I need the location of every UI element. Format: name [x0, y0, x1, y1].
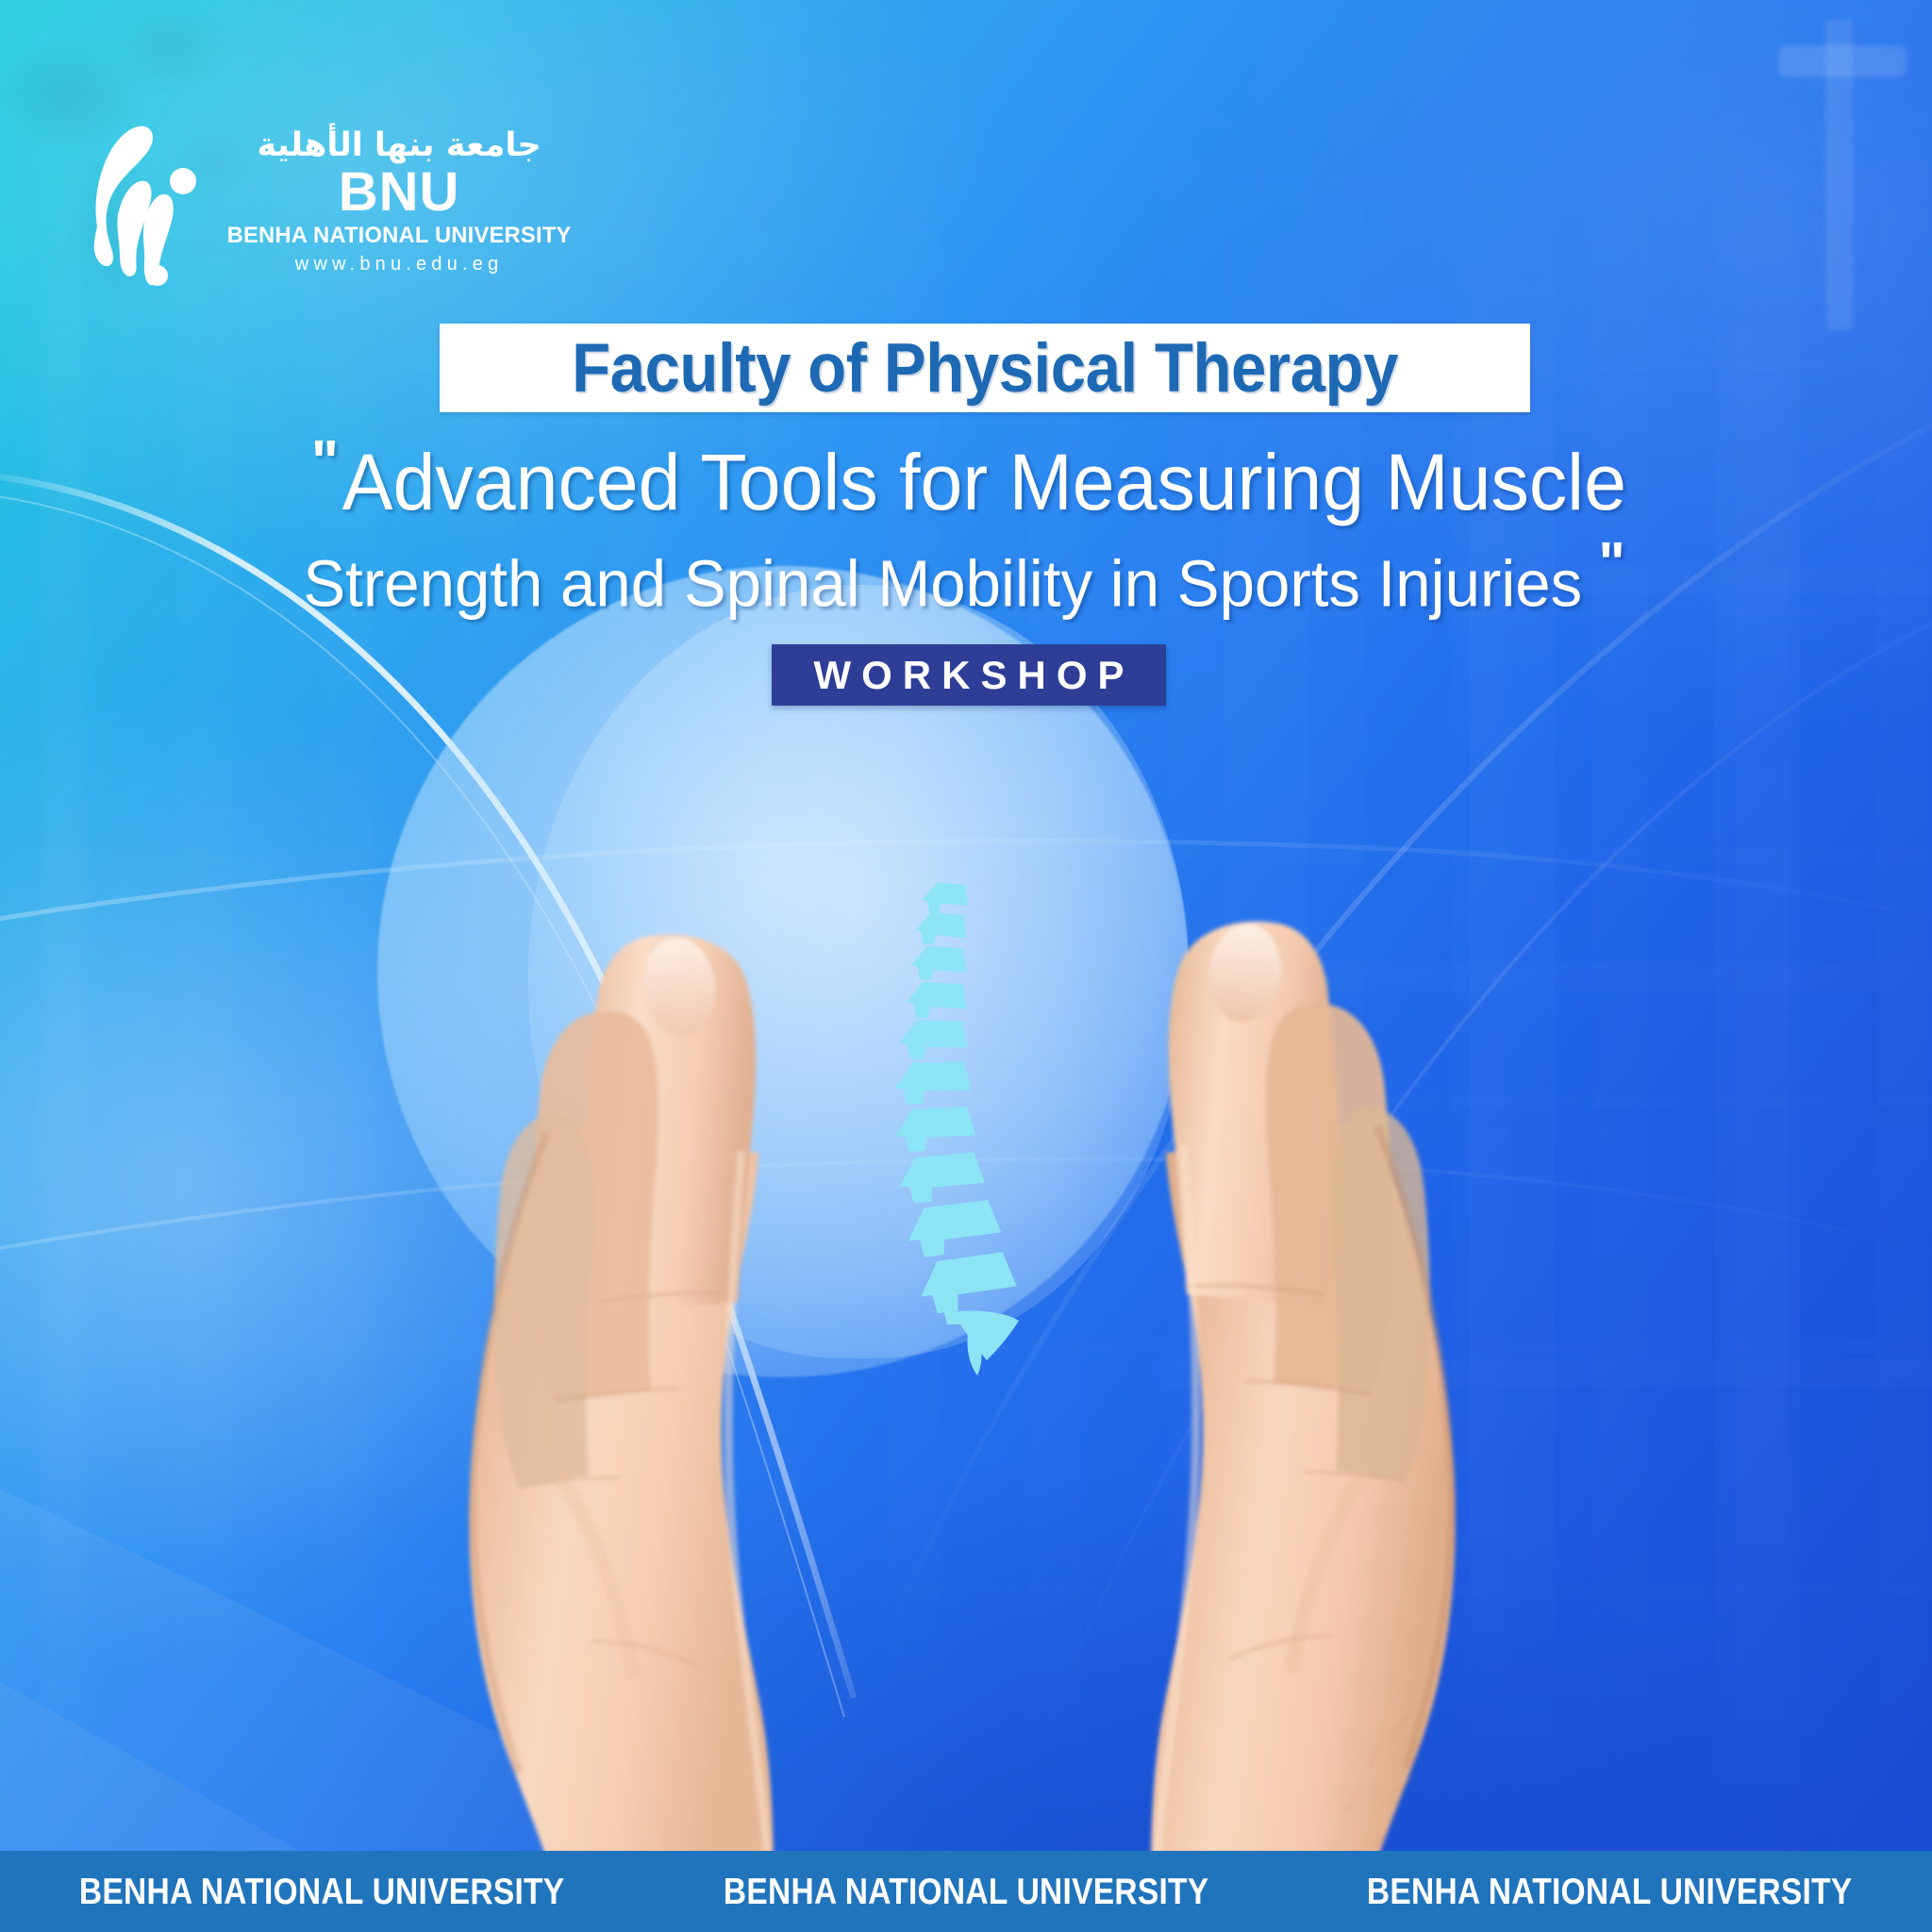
footer-item: BENHA NATIONAL UNIVERSITY — [79, 1874, 565, 1910]
close-quote-mark: " — [1599, 533, 1624, 596]
bnu-logo-mark-icon — [90, 113, 205, 288]
headline-line-2-text: Strength and Spinal Mobility in Sports I… — [303, 546, 1582, 620]
headline-line-1: "Advanced Tools for Measuring Muscle — [39, 429, 1893, 525]
logo-arabic-name: جامعة بنها الأهلية — [257, 129, 541, 162]
headline-line-1-text: Advanced Tools for Measuring Muscle — [342, 438, 1626, 526]
faculty-banner-label: Faculty of Physical Therapy — [572, 334, 1398, 403]
logo-website: www.bnu.edu.eg — [295, 251, 504, 277]
logo-abbreviation: BNU — [339, 164, 460, 222]
faculty-banner: Faculty of Physical Therapy — [440, 324, 1530, 412]
bnu-logo: جامعة بنها الأهلية BNU BENHA NATIONAL UN… — [90, 113, 576, 288]
footer-item: BENHA NATIONAL UNIVERSITY — [1367, 1874, 1853, 1910]
footer-item: BENHA NATIONAL UNIVERSITY — [724, 1874, 1209, 1910]
logo-full-name: BENHA NATIONAL UNIVERSITY — [227, 224, 572, 249]
headline-line-2: Strength and Spinal Mobility in Sports I… — [39, 533, 1893, 620]
poster-root: جامعة بنها الأهلية BNU BENHA NATIONAL UN… — [0, 0, 1932, 1932]
open-quote-mark: " — [311, 429, 337, 494]
workshop-badge-label: WORKSHOP — [804, 656, 1135, 695]
workshop-badge: WORKSHOP — [772, 644, 1166, 706]
workshop-headline: "Advanced Tools for Measuring Muscle Str… — [0, 429, 1932, 620]
spine-vertebrae-icon — [877, 877, 1085, 1377]
footer-band: BENHA NATIONAL UNIVERSITY BENHA NATIONAL… — [0, 1851, 1932, 1932]
